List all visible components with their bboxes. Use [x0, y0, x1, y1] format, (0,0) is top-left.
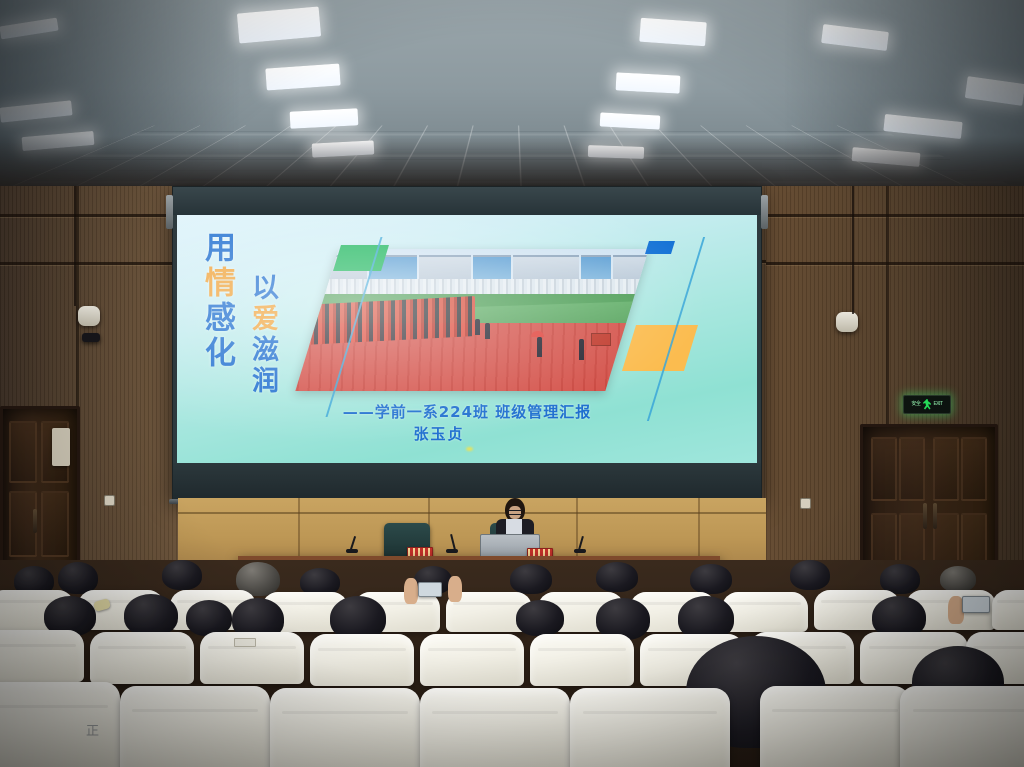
seat[interactable] — [760, 686, 910, 767]
wall-speaker-right — [836, 312, 858, 332]
ceiling-cable-left — [74, 186, 76, 306]
decor-parallelogram-green — [333, 245, 389, 271]
emergency-exit-sign: 安全 EXIT — [903, 395, 951, 414]
seat[interactable] — [570, 688, 730, 767]
seat[interactable] — [270, 688, 420, 767]
audience-head — [516, 600, 564, 636]
microphone-base-2 — [446, 549, 458, 553]
seat[interactable] — [900, 686, 1024, 767]
ceiling-light — [616, 72, 681, 93]
slide-presenter: 张玉贞 — [177, 423, 757, 444]
slide-vertical-title-2: 以爱滋润 — [243, 273, 282, 397]
exit-sign-en-label: EXIT — [933, 402, 942, 407]
ceiling-light — [290, 108, 359, 129]
microphone-base-3 — [574, 549, 586, 553]
ceiling-light — [265, 63, 340, 90]
ceiling-light — [639, 18, 707, 47]
exit-sign-cn-label: 安全 — [911, 402, 920, 407]
ceiling — [0, 0, 1024, 196]
audience-head — [124, 594, 178, 636]
wall-speaker-left — [78, 306, 100, 326]
seat[interactable] — [120, 686, 270, 767]
screen-clip-left — [166, 195, 173, 229]
seat[interactable] — [0, 630, 84, 682]
laser-pointer-dot — [466, 447, 473, 451]
seat[interactable] — [310, 634, 414, 686]
running-man-icon — [922, 399, 931, 410]
seat-back-label: 正 — [86, 720, 99, 739]
screen-bottom-bar — [173, 463, 761, 499]
seat[interactable] — [0, 682, 120, 767]
wall-outlet-right[interactable] — [800, 498, 811, 509]
audience-head — [186, 600, 232, 636]
slide-subtitle: ——学前一系224班 班级管理汇报 — [177, 401, 757, 422]
smartphone[interactable] — [418, 582, 442, 597]
audience-head — [790, 560, 830, 590]
security-camera-left — [82, 333, 100, 342]
seat[interactable] — [90, 632, 194, 684]
seat[interactable] — [420, 634, 524, 686]
presentation-slide: 用情感化 以爱滋润 ——学前一系224班 班级管理汇报 张玉贞 — [177, 215, 757, 463]
ceiling-light — [237, 6, 321, 43]
audience-seating: 中国移动 CHINA MOBILE 正 — [0, 560, 1024, 767]
decor-parallelogram-blue — [645, 241, 675, 254]
audience-head — [510, 564, 552, 594]
seat[interactable] — [420, 688, 570, 767]
projection-screen: 用情感化 以爱滋润 ——学前一系224班 班级管理汇报 张玉贞 — [172, 186, 762, 500]
audience-head — [596, 562, 638, 592]
wall-switch-left[interactable] — [52, 428, 70, 466]
microphone-base-1 — [346, 549, 358, 553]
raised-hand — [448, 576, 462, 602]
seat[interactable] — [992, 590, 1024, 630]
ceiling-cable-right — [852, 186, 854, 314]
seat[interactable] — [722, 592, 808, 632]
audience-head — [940, 566, 976, 592]
audience-head — [690, 564, 732, 594]
glasses-icon — [508, 510, 522, 515]
seat-tag — [234, 638, 256, 647]
slide-vertical-title-1: 用情感化 — [195, 231, 240, 371]
screen-top-casing — [173, 187, 761, 215]
lecture-hall-photo: 安全 EXIT — [0, 0, 1024, 767]
seat[interactable] — [530, 634, 634, 686]
wall-outlet-left[interactable] — [104, 495, 115, 506]
screen-clip-right — [761, 195, 768, 229]
raised-hand — [404, 578, 418, 604]
decor-parallelogram-orange — [622, 325, 698, 371]
audience-head — [162, 560, 202, 590]
smartphone[interactable] — [962, 596, 990, 613]
